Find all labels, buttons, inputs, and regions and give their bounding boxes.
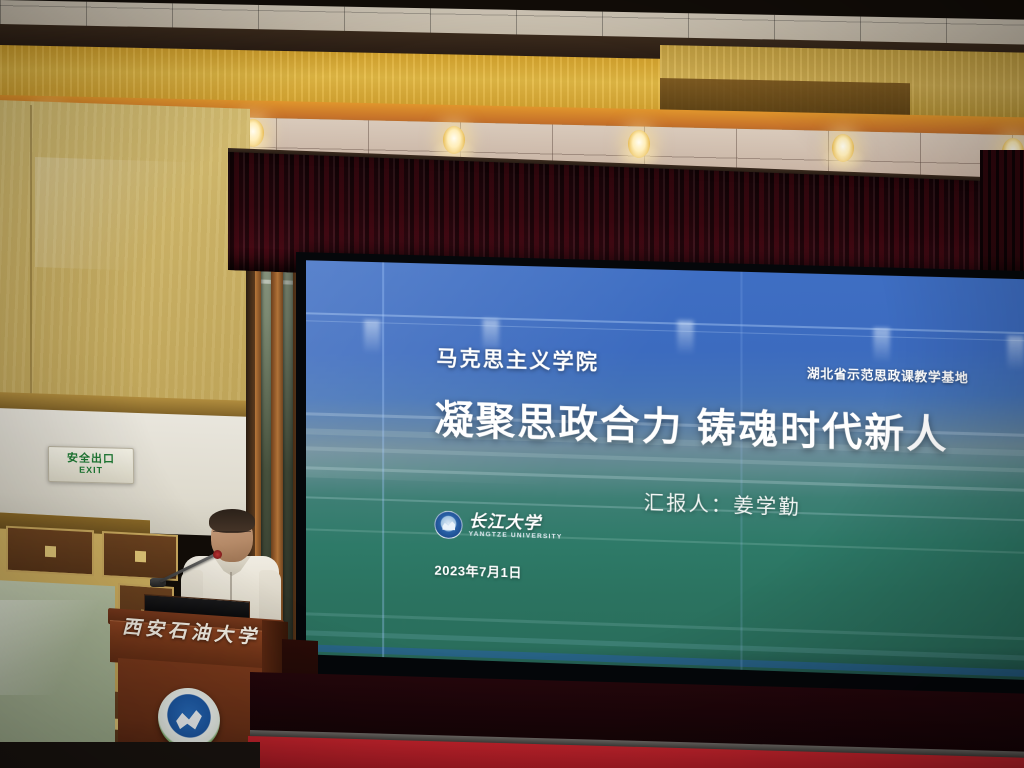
slide-content: 马克思主义学院 湖北省示范思政课教学基地 凝聚思政合力 铸魂时代新人 汇报人：姜…: [306, 260, 1024, 680]
floor-left-dark: [0, 742, 260, 768]
projection-screen-frame: 马克思主义学院 湖北省示范思政课教学基地 凝聚思政合力 铸魂时代新人 汇报人：姜…: [296, 252, 1024, 709]
green-wall-sheen: [0, 600, 113, 695]
wall-panel-seam: [30, 105, 32, 395]
university-logo: 长江大学 YANGTZE UNIVERSITY: [434, 510, 562, 542]
slide-date: 2023年7月1日: [434, 560, 522, 582]
slide-presenter: 汇报人：姜学勤: [644, 486, 801, 520]
university-emblem-icon: [434, 510, 462, 539]
exit-sign-english: EXIT: [79, 465, 103, 476]
slide-base-label: 湖北省示范思政课教学基地: [807, 363, 969, 387]
slide-department: 马克思主义学院: [436, 342, 599, 377]
speaker-brow: [213, 531, 251, 540]
university-name-cn: 长江大学: [469, 513, 563, 533]
door-panel: [6, 526, 94, 577]
microphone-head: [213, 550, 222, 559]
speaker-hair: [209, 509, 255, 533]
exit-sign: 安全出口 EXIT: [48, 446, 134, 484]
door-panel: [102, 531, 178, 581]
projection-screen[interactable]: 马克思主义学院 湖北省示范思政课教学基地 凝聚思政合力 铸魂时代新人 汇报人：姜…: [306, 260, 1024, 680]
photo-scene: 安全出口 EXIT: [0, 0, 1024, 768]
exit-sign-chinese: 安全出口: [67, 454, 115, 466]
downlight-glow: [820, 146, 866, 172]
wall-light-sheen: [35, 157, 210, 273]
university-name-en: YANGTZE UNIVERSITY: [469, 532, 563, 542]
slide-main-title: 凝聚思政合力 铸魂时代新人: [434, 389, 948, 461]
